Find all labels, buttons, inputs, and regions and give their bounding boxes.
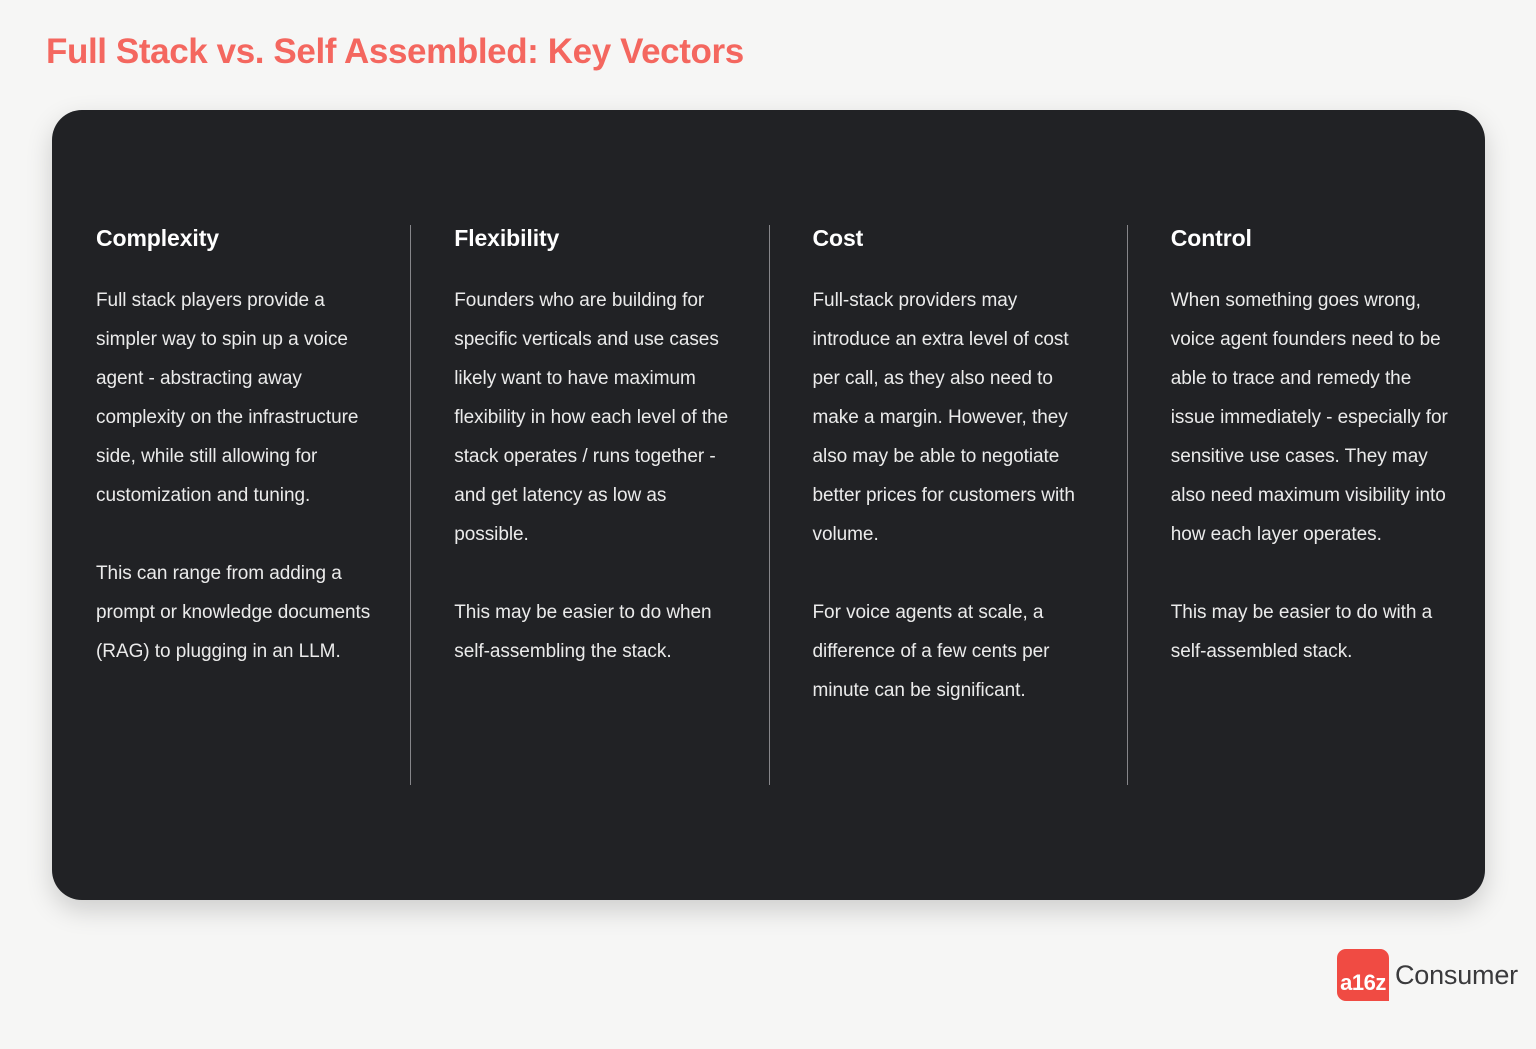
column-body-flexibility: Founders who are building for specific v… [454,281,738,671]
column-paragraph: Full stack players provide a simpler way… [96,281,380,515]
column-cost: Cost Full-stack providers may introduce … [769,110,1127,900]
column-paragraph: Founders who are building for specific v… [454,281,738,554]
column-title-complexity: Complexity [96,225,380,253]
column-title-flexibility: Flexibility [454,225,738,253]
comparison-columns: Complexity Full stack players provide a … [52,110,1485,900]
column-body-control: When something goes wrong, voice agent f… [1171,281,1455,671]
column-paragraph: For voice agents at scale, a difference … [813,593,1097,710]
column-complexity: Complexity Full stack players provide a … [52,110,410,900]
comparison-card: Complexity Full stack players provide a … [52,110,1485,900]
column-control: Control When something goes wrong, voice… [1127,110,1485,900]
slide-root: Full Stack vs. Self Assembled: Key Vecto… [0,0,1536,1049]
a16z-logo-wordmark: Consumer [1395,962,1518,989]
column-title-cost: Cost [813,225,1097,253]
column-flexibility: Flexibility Founders who are building fo… [410,110,768,900]
column-body-cost: Full-stack providers may introduce an ex… [813,281,1097,710]
a16z-logo-mark: a16z [1337,949,1389,1001]
column-body-complexity: Full stack players provide a simpler way… [96,281,380,671]
page-title: Full Stack vs. Self Assembled: Key Vecto… [46,30,744,74]
column-paragraph: This may be easier to do with a self-ass… [1171,593,1455,671]
a16z-consumer-logo: a16z Consumer [1337,949,1518,1001]
column-paragraph: This may be easier to do when self-assem… [454,593,738,671]
column-title-control: Control [1171,225,1455,253]
column-paragraph: This can range from adding a prompt or k… [96,554,380,671]
a16z-logo-mark-text: a16z [1340,972,1386,998]
column-paragraph: Full-stack providers may introduce an ex… [813,281,1097,554]
column-paragraph: When something goes wrong, voice agent f… [1171,281,1455,554]
